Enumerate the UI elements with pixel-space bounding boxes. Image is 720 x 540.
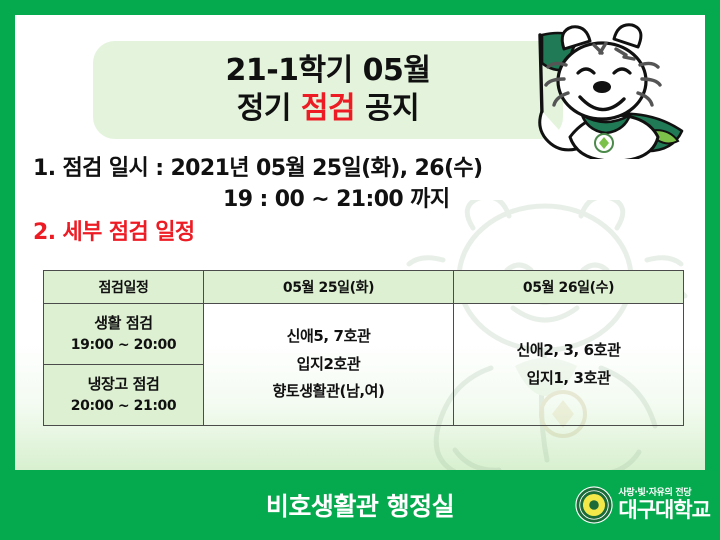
title-highlight: 점검	[301, 91, 355, 126]
table-row: 생활 점검 19:00 ~ 20:00 신애5, 7호관 입지2호관 향토생활관…	[44, 304, 684, 365]
notice-item-2: 2. 세부 점검 일정	[33, 217, 673, 248]
notice-body: 1. 점검 일시 : 2021년 05월 25일(화), 26(수) 19 : …	[33, 153, 673, 249]
title-prefix: 정기	[237, 91, 301, 126]
university-emblem-icon	[575, 486, 613, 524]
footer-office-name: 비호생활관 행정실	[266, 487, 454, 523]
table-header-schedule: 점검일정	[44, 271, 204, 304]
notice-item-1-time: 19 : 00 ~ 21:00 까지	[33, 184, 673, 215]
schedule-table: 점검일정 05월 25일(화) 05월 26일(수) 생활 점검 19:00 ~…	[43, 270, 684, 426]
poster-footer: 비호생활관 행정실 사랑·빛·자유의 전당 대구대학교	[0, 470, 720, 540]
title-suffix: 공지	[355, 91, 419, 126]
schedule-table-wrap: 점검일정 05월 25일(화) 05월 26일(수) 생활 점검 19:00 ~…	[43, 270, 683, 426]
row-label-fridge-check: 냉장고 점검 20:00 ~ 21:00	[44, 365, 204, 426]
row-label-time: 20:00 ~ 21:00	[44, 396, 203, 416]
cell-day26-locations: 신애2, 3, 6호관 입지1, 3호관	[454, 304, 684, 426]
day25-location-2: 입지2호관	[204, 351, 453, 379]
row-label-title: 생활 점검	[44, 313, 203, 335]
cell-day25-locations: 신애5, 7호관 입지2호관 향토생활관(남,여)	[204, 304, 454, 426]
poster-title-box: 21-1학기 05월 정기 점검 공지	[93, 41, 563, 139]
poster-page: 21-1학기 05월 정기 점검 공지	[15, 15, 705, 470]
day26-location-2: 입지1, 3호관	[454, 365, 683, 393]
day26-location-1: 신애2, 3, 6호관	[454, 337, 683, 365]
university-wordmark: 사랑·빛·자유의 전당 대구대학교	[618, 489, 710, 521]
table-header-row: 점검일정 05월 25일(화) 05월 26일(수)	[44, 271, 684, 304]
poster-title-line-1: 21-1학기 05월	[225, 52, 430, 90]
notice-item-1: 1. 점검 일시 : 2021년 05월 25일(화), 26(수)	[33, 153, 673, 184]
poster-root: 21-1학기 05월 정기 점검 공지	[0, 0, 720, 540]
tiger-mascot-icon	[498, 19, 703, 159]
day25-location-3: 향토생활관(남,여)	[204, 378, 453, 406]
table-header-day25: 05월 25일(화)	[204, 271, 454, 304]
university-brand: 사랑·빛·자유의 전당 대구대학교	[575, 486, 710, 524]
day25-location-1: 신애5, 7호관	[204, 323, 453, 351]
row-label-time: 19:00 ~ 20:00	[44, 335, 203, 355]
row-label-title: 냉장고 점검	[44, 374, 203, 396]
table-header-day26: 05월 26일(수)	[454, 271, 684, 304]
row-label-life-check: 생활 점검 19:00 ~ 20:00	[44, 304, 204, 365]
poster-title-line-2: 정기 점검 공지	[237, 90, 420, 128]
university-name: 대구대학교	[618, 500, 710, 521]
